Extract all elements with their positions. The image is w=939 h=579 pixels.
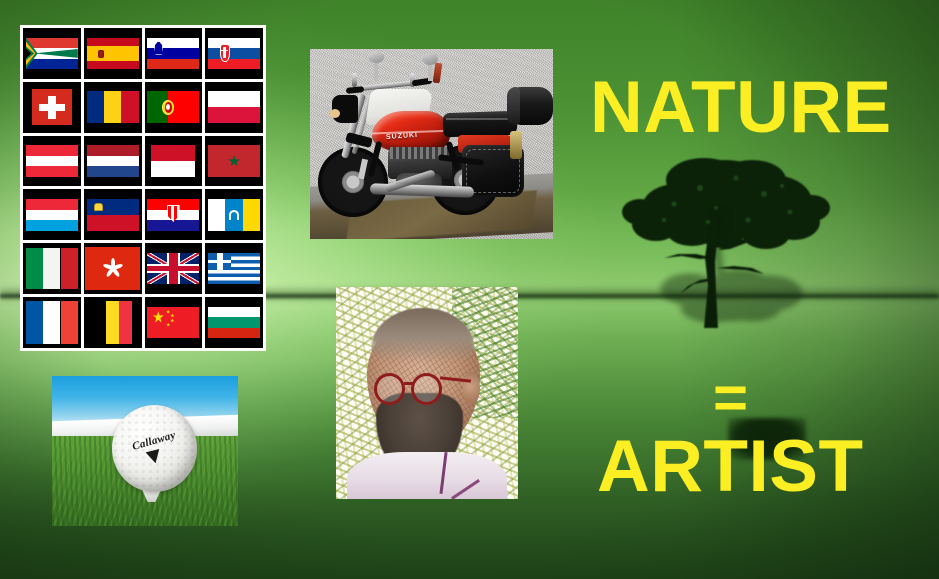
nature-text: NATURE (590, 71, 892, 144)
flag-cell-austria (23, 136, 81, 187)
portrait-glasses-right-lens (411, 373, 442, 405)
handlebar-riser-left (352, 73, 357, 87)
portrait-glasses-bridge (404, 382, 413, 385)
golf-ball-image: Callaway (52, 376, 238, 526)
portrait-shirt (347, 452, 507, 499)
flag-cell-switzerland (23, 82, 81, 133)
luggage-roll-end (507, 87, 520, 125)
flag-cell-united-kingdom (145, 243, 203, 294)
equals-text: = (713, 368, 749, 428)
flag-cell-south-africa (23, 28, 81, 79)
flag-cell-slovakia (205, 28, 263, 79)
flag-cell-china (145, 297, 203, 348)
golf-ball: Callaway (112, 405, 198, 492)
flag-cell-croatia (145, 189, 203, 240)
callaway-chevron-icon (146, 449, 163, 465)
mirror-left (368, 51, 384, 63)
flag-cell-belgium (84, 297, 142, 348)
flag-cell-france (23, 297, 81, 348)
flag-cell-hong-kong (84, 243, 142, 294)
portrait-image (336, 287, 518, 499)
flag-cell-italy (23, 243, 81, 294)
flag-cell-bulgaria (205, 297, 263, 348)
portrait-ear (463, 372, 479, 404)
portrait-glasses-left-lens (374, 373, 405, 405)
flag-cell-indonesia (145, 136, 203, 187)
flag-cell-canary-islands (205, 189, 263, 240)
flag-cell-luxembourg (23, 189, 81, 240)
turn-signal (330, 109, 340, 118)
flag-cell-romania (84, 82, 142, 133)
flag-cell-spain (84, 28, 142, 79)
rear-accent (510, 131, 522, 159)
flag-cell-portugal (145, 82, 203, 133)
flag-cell-netherlands (84, 136, 142, 187)
flag-cell-greece (205, 243, 263, 294)
flag-cell-slovenia (145, 28, 203, 79)
artist-text: ARTIST (597, 430, 864, 503)
seat-seam (446, 118, 512, 120)
flag-cell-liechtenstein (84, 189, 142, 240)
motorcycle-image: SUZUKI (310, 49, 553, 239)
flag-grid-image (20, 25, 266, 351)
flag-cell-morocco (205, 136, 263, 187)
flag-cell-poland (205, 82, 263, 133)
